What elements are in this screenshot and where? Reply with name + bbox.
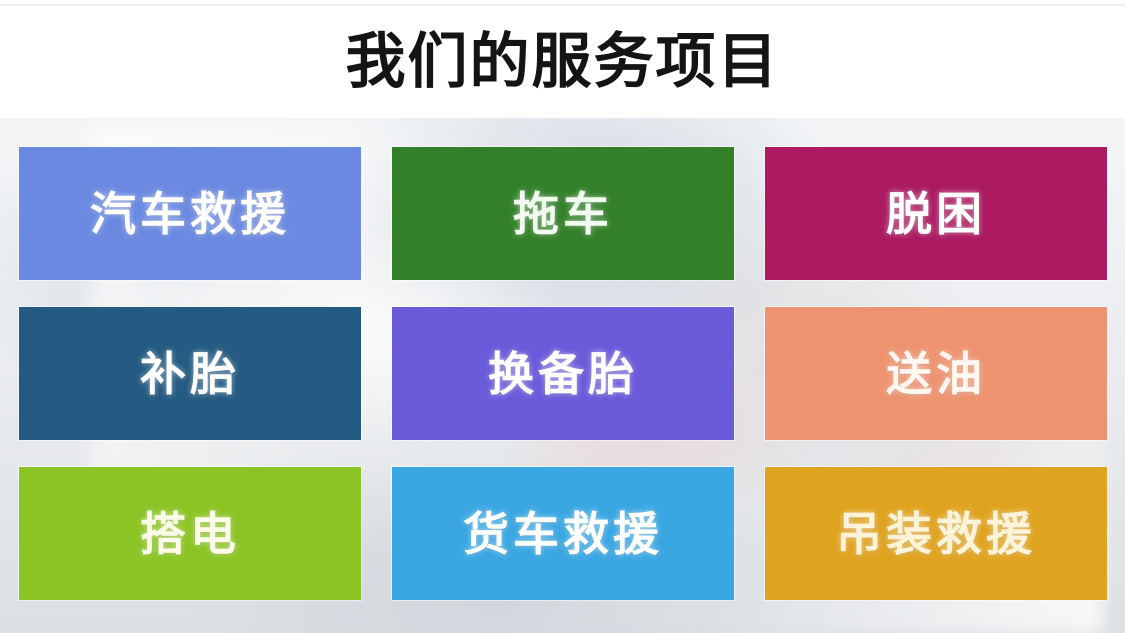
service-tile-jump-start[interactable]: 搭电	[19, 467, 361, 600]
service-tile-label: 补胎	[140, 351, 240, 397]
service-tile-tow-truck[interactable]: 拖车	[392, 147, 734, 280]
service-tile-label: 吊装救援	[836, 511, 1036, 557]
service-tile-label: 送油	[886, 351, 986, 397]
page-title: 我们的服务项目	[346, 32, 780, 92]
header: 我们的服务项目	[0, 6, 1125, 118]
service-tile-spare-tire-change[interactable]: 换备胎	[392, 307, 734, 440]
service-tile-tire-repair[interactable]: 补胎	[19, 307, 361, 440]
service-tile-truck-rescue[interactable]: 货车救援	[392, 467, 734, 600]
service-tile-label: 拖车	[513, 191, 613, 237]
service-grid: 汽车救援 拖车 脱困 补胎 换备胎 送油 搭电 货车救援 吊装救援	[19, 147, 1107, 600]
service-tile-label: 货车救援	[463, 511, 663, 557]
service-tile-label: 脱困	[886, 191, 986, 237]
service-tile-label: 汽车救援	[90, 191, 290, 237]
service-tile-extrication[interactable]: 脱困	[765, 147, 1107, 280]
service-tile-hoisting-rescue[interactable]: 吊装救援	[765, 467, 1107, 600]
service-tile-label: 换备胎	[488, 351, 638, 397]
service-tile-label: 搭电	[140, 511, 240, 557]
service-poster: 我们的服务项目 汽车救援 拖车 脱困 补胎 换备胎 送油 搭电 货车救援 吊装救…	[0, 0, 1125, 633]
service-tile-car-rescue[interactable]: 汽车救援	[19, 147, 361, 280]
service-tile-fuel-delivery[interactable]: 送油	[765, 307, 1107, 440]
